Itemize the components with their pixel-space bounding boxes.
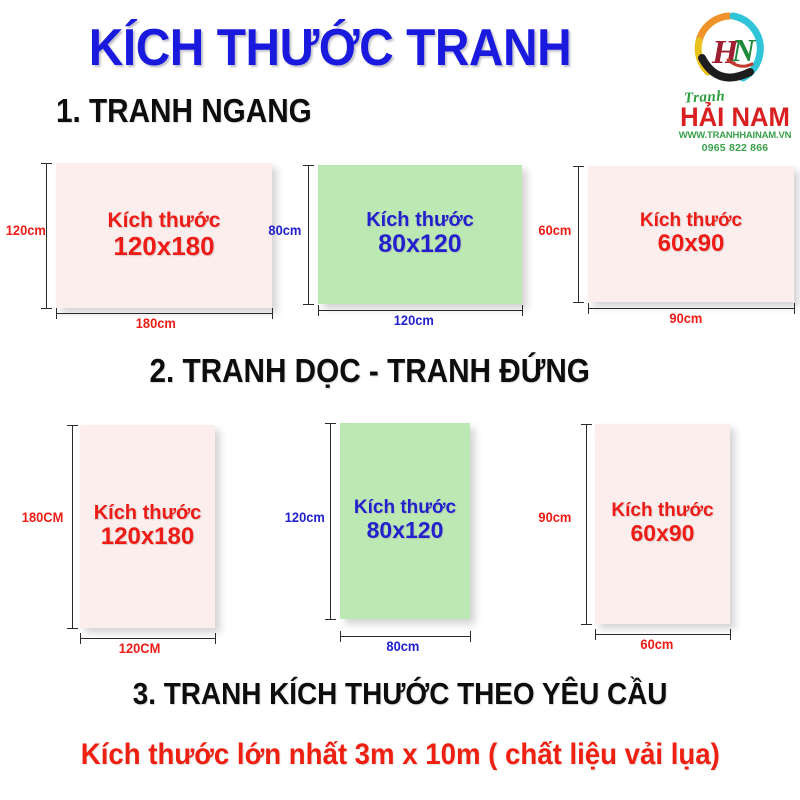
- h3-width-tick-right: [794, 303, 795, 314]
- h1-height-tick-bottom: [41, 308, 52, 309]
- v3-height-label: 90cm: [538, 509, 571, 525]
- h1-height-label: 120cm: [6, 222, 46, 238]
- vertical-box-60x90: Kích thước 60x90: [595, 424, 730, 624]
- section-3-heading: 3. TRANH KÍCH THƯỚC THEO YÊU CẦU: [0, 676, 800, 712]
- v3-width-dim-line: [595, 634, 730, 635]
- h2-height-tick-bottom: [303, 304, 314, 305]
- v1-width-label: 120CM: [119, 640, 161, 656]
- v1-width-tick-right: [215, 633, 216, 644]
- v2-height-tick-bottom: [325, 619, 336, 620]
- v2-width-tick-left: [340, 631, 341, 642]
- v1-label-top: Kích thước: [94, 503, 202, 524]
- h3-width-dim-line: [588, 308, 794, 309]
- v2-height-label: 120cm: [285, 509, 325, 525]
- horizontal-box-120x180: Kích thước 120x180: [56, 163, 272, 308]
- h1-width-dim-line: [56, 313, 272, 314]
- v3-width-tick-right: [730, 629, 731, 640]
- page-title: KÍCH THƯỚC TRANH: [26, 18, 633, 78]
- section-3-heading-text: 3. TRANH KÍCH THƯỚC THEO YÊU CẦU: [133, 676, 668, 712]
- v2-label-top: Kích thước: [354, 498, 456, 518]
- v1-height-tick-bottom: [67, 628, 78, 629]
- horizontal-box-60x90: Kích thước 60x90: [588, 166, 794, 302]
- horizontal-box-80x120: Kích thước 80x120: [318, 165, 522, 304]
- v2-height-dim-line: [330, 423, 331, 619]
- v2-width-tick-right: [470, 631, 471, 642]
- h1-height-dim-line: [46, 163, 47, 308]
- h2-width-tick-right: [522, 305, 523, 316]
- logo-phone: 0965 822 866: [676, 142, 794, 154]
- h3-width-label: 90cm: [669, 310, 702, 326]
- v2-label-size: 80x120: [367, 518, 444, 543]
- h2-label-top: Kích thước: [366, 210, 474, 231]
- v2-width-label: 80cm: [386, 638, 419, 654]
- v1-height-label: 180CM: [22, 509, 64, 525]
- h2-width-tick-left: [318, 305, 319, 316]
- h2-height-dim-line: [308, 165, 309, 304]
- h3-height-dim-line: [578, 166, 579, 302]
- v1-label-size: 120x180: [101, 524, 194, 550]
- h2-height-tick-top: [303, 165, 314, 166]
- section-2-heading: 2. TRANH DỌC - TRANH ĐỨNG: [0, 352, 740, 390]
- h3-label-size: 60x90: [658, 231, 725, 257]
- v3-height-dim-line: [586, 424, 587, 624]
- logo-circle-icon: H N: [688, 8, 770, 90]
- h3-height-tick-top: [573, 166, 584, 167]
- v3-label-size: 60x90: [631, 521, 695, 546]
- v1-height-tick-top: [67, 425, 78, 426]
- v3-height-tick-top: [581, 424, 592, 425]
- section-1-heading: 1. TRANH NGANG: [56, 92, 312, 130]
- v3-width-label: 60cm: [640, 636, 673, 652]
- v1-width-dim-line: [80, 638, 215, 639]
- v3-height-tick-bottom: [581, 624, 592, 625]
- svg-text:N: N: [731, 32, 757, 68]
- h3-height-tick-bottom: [573, 302, 584, 303]
- h2-width-dim-line: [318, 310, 522, 311]
- logo-brand-name: HẢI NAM: [679, 102, 791, 133]
- h1-width-tick-right: [272, 308, 273, 319]
- h1-width-tick-left: [56, 308, 57, 319]
- vertical-box-80x120: Kích thước 80x120: [340, 423, 470, 619]
- h1-label-size: 120x180: [113, 232, 214, 261]
- h1-width-label: 180cm: [136, 315, 176, 331]
- h2-width-label: 120cm: [394, 312, 434, 328]
- h3-height-label: 60cm: [538, 222, 571, 238]
- v2-width-dim-line: [340, 636, 470, 637]
- v2-height-tick-top: [325, 423, 336, 424]
- h2-height-label: 80cm: [268, 222, 301, 238]
- h3-width-tick-left: [588, 303, 589, 314]
- max-size-tagline: Kích thước lớn nhất 3m x 10m ( chất liệu…: [0, 738, 800, 772]
- vertical-box-120x180: Kích thước 120x180: [80, 425, 215, 628]
- section-2-heading-text: 2. TRANH DỌC - TRANH ĐỨNG: [150, 352, 590, 390]
- logo-website: WWW.TRANHHAINAM.VN: [676, 130, 794, 141]
- h3-label-top: Kích thước: [640, 211, 742, 231]
- v3-label-top: Kích thước: [611, 501, 713, 521]
- max-size-tagline-text: Kích thước lớn nhất 3m x 10m ( chất liệu…: [81, 738, 720, 772]
- h2-label-size: 80x120: [378, 231, 461, 259]
- v1-height-dim-line: [72, 425, 73, 628]
- h1-height-tick-top: [41, 163, 52, 164]
- brand-logo: H N Tranh HẢI NAM WWW.TRANHHAINAM.VN 096…: [676, 8, 794, 156]
- h1-label-top: Kích thước: [108, 210, 221, 232]
- v3-width-tick-left: [595, 629, 596, 640]
- v1-width-tick-left: [80, 633, 81, 644]
